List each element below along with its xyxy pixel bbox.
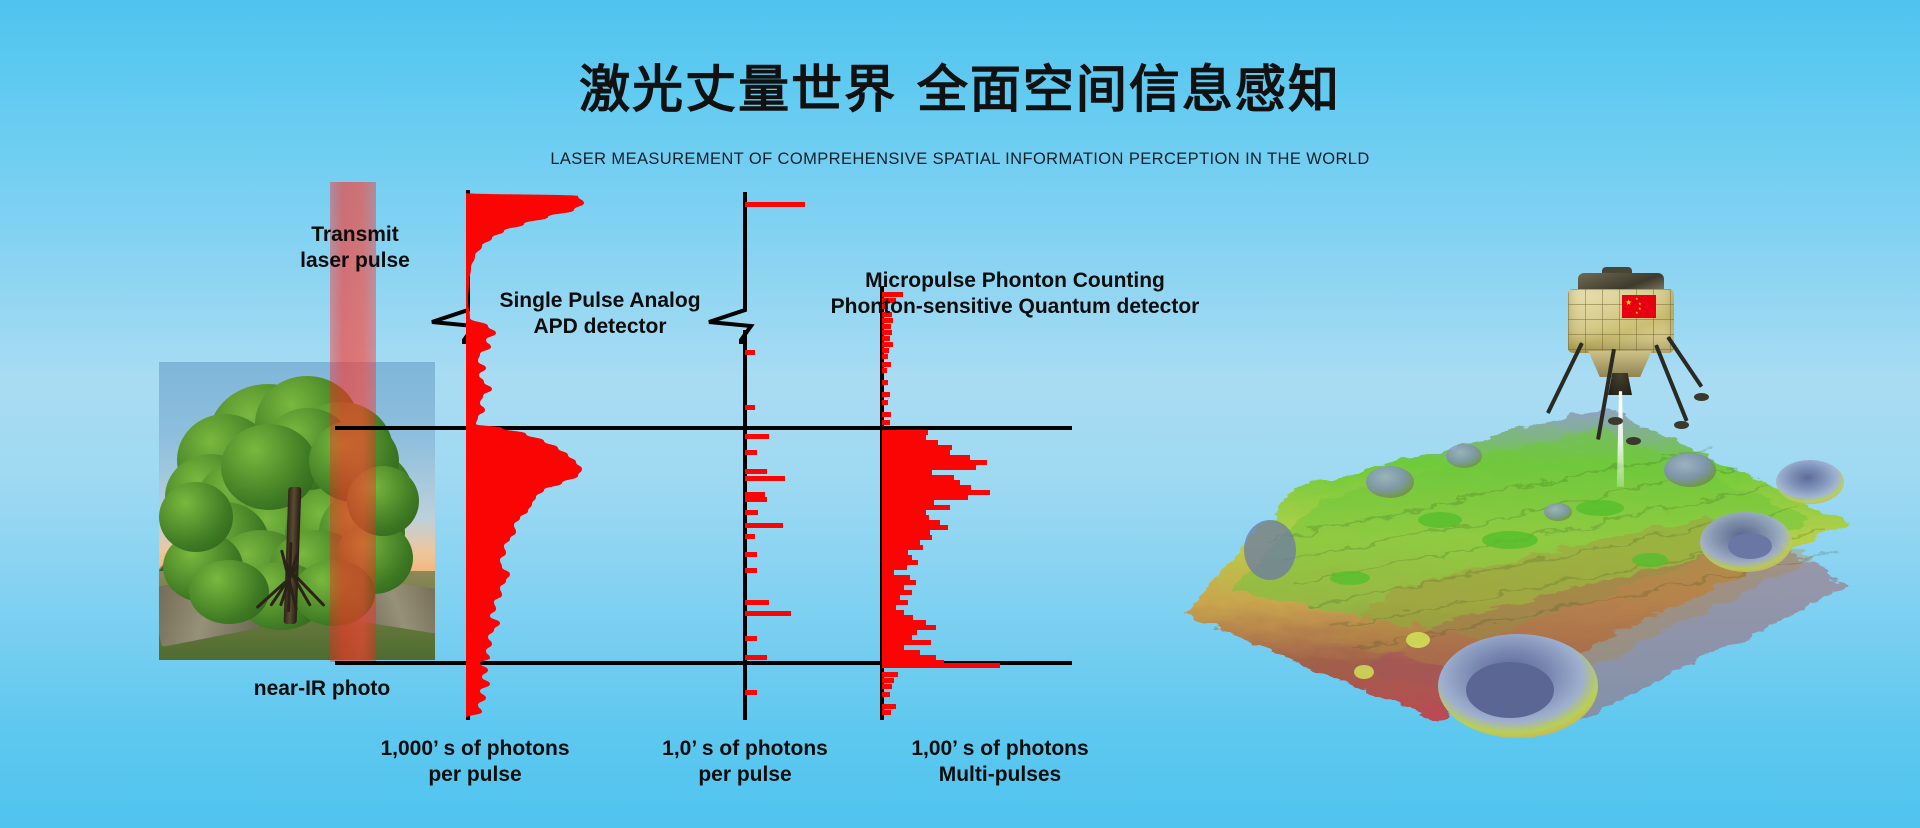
- spike-bar: [745, 523, 783, 528]
- near-ir-tree-photo: [159, 362, 435, 660]
- spike-bar: [882, 324, 891, 329]
- spike-bar: [745, 611, 791, 616]
- spike-bar: [882, 342, 893, 347]
- spike-bar: [745, 450, 757, 455]
- spike-bar: [745, 600, 769, 605]
- caption-mid: 1,0’ s of photons per pulse: [625, 736, 865, 787]
- lander-foot-4: [1694, 393, 1709, 401]
- spike-bar: [882, 704, 896, 709]
- spike-bar: [882, 692, 890, 697]
- spike-bar: [882, 330, 892, 335]
- canopy-blob: [189, 560, 269, 624]
- spike-bar: [882, 400, 888, 405]
- lander-foot-1: [1608, 417, 1623, 425]
- canopy-blob: [347, 466, 419, 536]
- spike-bar: [745, 202, 805, 207]
- spike-bar: [882, 684, 892, 689]
- poster-canvas: 激光丈量世界 全面空间信息感知 LASER MEASUREMENT OF COM…: [0, 0, 1920, 828]
- spike-bar: [882, 392, 890, 397]
- lunar-lander: ★ ★ ★ ★ ★: [1550, 265, 1690, 395]
- spike-bar: [882, 362, 891, 367]
- spike-bar: [882, 354, 888, 359]
- spike-bar: [745, 434, 769, 439]
- near-ir-photo-label: near-IR photo: [222, 676, 422, 702]
- spike-bar: [745, 655, 767, 660]
- spike-bar: [745, 510, 758, 515]
- colorized-elevation-terrain-model: [1150, 390, 1850, 770]
- spike-bar: [882, 348, 889, 353]
- spike-bar: [745, 350, 755, 355]
- transmit-pulse-label: Transmit laser pulse: [265, 222, 445, 273]
- spike-bar: [745, 497, 767, 502]
- spike-bar: [882, 663, 1000, 668]
- spike-bar: [745, 534, 755, 539]
- spike-bar: [882, 412, 891, 417]
- canopy-blob: [221, 424, 317, 510]
- canopy-blob: [159, 482, 233, 552]
- micropulse-photon-counting-histogram: [882, 0, 1142, 828]
- spike-bar: [745, 552, 757, 557]
- spike-bar: [882, 710, 891, 715]
- lander-panel-grid: [1568, 289, 1674, 353]
- spike-bar: [882, 380, 888, 385]
- spike-bar: [745, 405, 755, 410]
- spike-bar: [745, 690, 757, 695]
- spike-bar: [745, 636, 757, 641]
- china-flag: ★ ★ ★ ★ ★: [1622, 295, 1656, 318]
- spike-bar: [882, 420, 890, 425]
- single-pulse-analog-waveform: [466, 185, 666, 725]
- caption-right: 1,00’ s of photons Multi-pulses: [880, 736, 1120, 787]
- spike-bar: [882, 368, 887, 373]
- lander-foot-2: [1626, 437, 1641, 445]
- single-pulse-detector-label: Single Pulse Analog APD detector: [460, 288, 740, 339]
- lunar-landing-scene: ★ ★ ★ ★ ★: [1150, 265, 1870, 775]
- spike-bar: [745, 476, 785, 481]
- spike-bar: [882, 336, 890, 341]
- caption-left: 1,000’ s of photons per pulse: [350, 736, 600, 787]
- spike-bar: [745, 568, 757, 573]
- lander-foot-3: [1674, 421, 1689, 429]
- lander-body: [1568, 289, 1674, 353]
- spike-bar: [745, 469, 767, 474]
- spike-bar: [882, 678, 894, 683]
- spike-bar: [882, 672, 898, 677]
